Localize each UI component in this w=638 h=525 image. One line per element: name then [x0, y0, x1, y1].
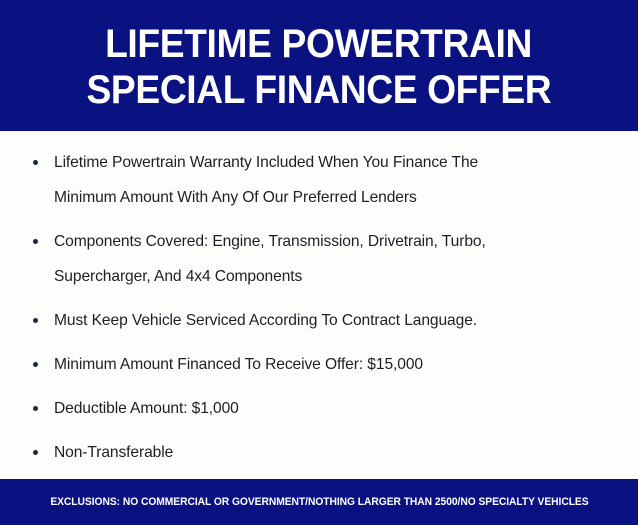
bullet-dot-icon [33, 450, 38, 455]
list-item: Non-Transferable [14, 435, 624, 470]
offer-details-section: Lifetime Powertrain Warranty Included Wh… [0, 131, 638, 479]
list-item-label: Must Keep Vehicle Serviced According To … [54, 303, 624, 338]
list-item-label: Non-Transferable [54, 435, 624, 470]
list-item-label: Minimum Amount Financed To Receive Offer… [54, 347, 624, 382]
promotional-slide: LIFETIME POWERTRAIN SPECIAL FINANCE OFFE… [0, 0, 638, 479]
bullet-dot-icon [33, 406, 38, 411]
list-item-label: Deductible Amount: $1,000 [54, 391, 624, 426]
list-item: Deductible Amount: $1,000 [14, 391, 624, 426]
exclusions-disclaimer: EXCLUSIONS: NO COMMERCIAL OR GOVERNMENT/… [50, 496, 588, 508]
header-banner: LIFETIME POWERTRAIN SPECIAL FINANCE OFFE… [0, 0, 638, 131]
bullet-dot-icon [33, 318, 38, 323]
bullet-dot-icon [33, 362, 38, 367]
list-item-label: Components Covered: Engine, Transmission… [54, 224, 624, 294]
bullet-dot-icon [33, 160, 38, 165]
footer-banner: EXCLUSIONS: NO COMMERCIAL OR GOVERNMENT/… [0, 479, 638, 525]
page-title-line-1: LIFETIME POWERTRAIN [106, 21, 533, 67]
list-item: Components Covered: Engine, Transmission… [14, 224, 624, 294]
list-item: Lifetime Powertrain Warranty Included Wh… [14, 145, 624, 215]
list-item: Must Keep Vehicle Serviced According To … [14, 303, 624, 338]
page-title-line-2: SPECIAL FINANCE OFFER [87, 67, 552, 113]
list-item-label: Lifetime Powertrain Warranty Included Wh… [54, 145, 624, 215]
bullet-dot-icon [33, 239, 38, 244]
offer-terms-list: Lifetime Powertrain Warranty Included Wh… [14, 145, 624, 470]
list-item: Minimum Amount Financed To Receive Offer… [14, 347, 624, 382]
